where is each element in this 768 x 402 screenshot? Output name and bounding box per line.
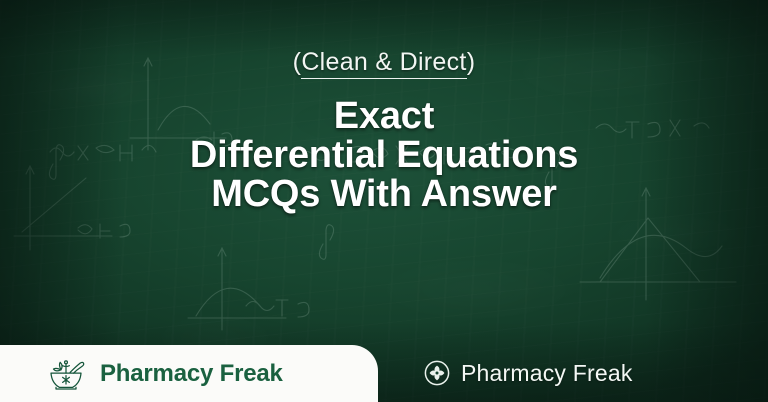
- title-line-1: Exact: [0, 97, 768, 136]
- kicker-underlined-text: Clean & Direct: [301, 48, 466, 79]
- brand-card-name: Pharmacy Freak: [100, 362, 283, 386]
- title-line-3: MCQs With Answer: [0, 175, 768, 214]
- title-line-2: Differential Equations: [0, 136, 768, 175]
- pinwheel-flower-icon: [424, 360, 450, 386]
- brand-right: Pharmacy Freak: [424, 356, 633, 390]
- brand-card: Pharmacy Freak: [0, 345, 378, 402]
- mortar-and-pestle-icon: [46, 357, 86, 391]
- kicker-text: (Clean & Direct): [0, 50, 768, 75]
- brand-right-name: Pharmacy Freak: [461, 362, 633, 385]
- page-title: Exact Differential Equations MCQs With A…: [0, 97, 768, 214]
- headline-block: (Clean & Direct) Exact Differential Equa…: [0, 50, 768, 214]
- kicker-close-paren: ): [467, 48, 476, 76]
- promo-banner: (Clean & Direct) Exact Differential Equa…: [0, 0, 768, 402]
